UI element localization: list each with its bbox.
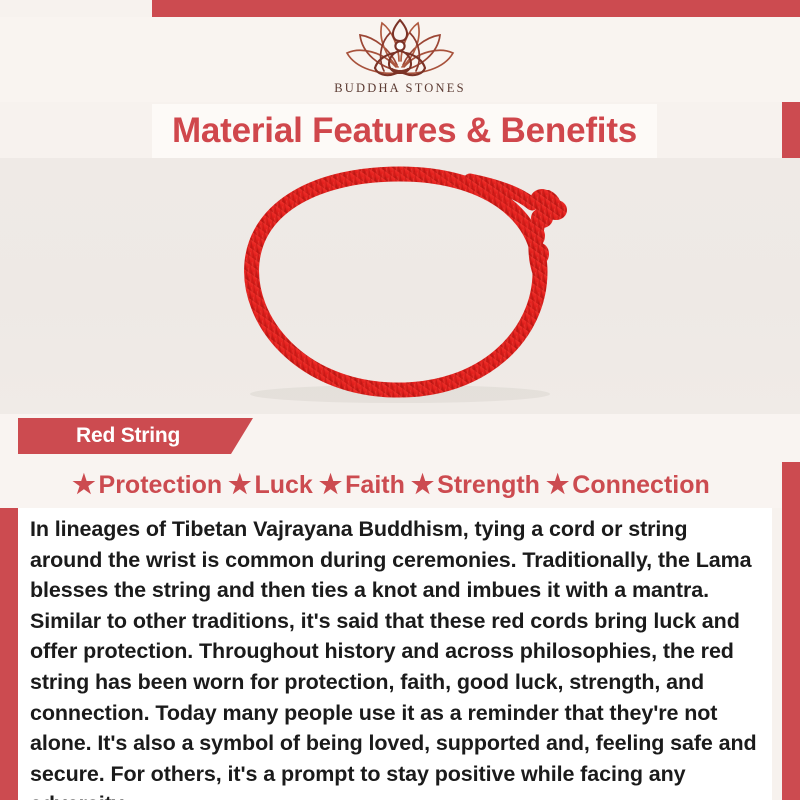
product-label: Red String — [18, 424, 180, 448]
feature-item-connection: ★ Connection — [546, 471, 710, 500]
feature-label: Connection — [572, 471, 710, 500]
description-block: In lineages of Tibetan Vajrayana Buddhis… — [18, 508, 772, 800]
lotus-meditation-icon — [344, 17, 456, 79]
title-banner: Material Features & Benefits — [152, 104, 657, 158]
star-icon: ★ — [72, 471, 95, 497]
feature-label: Faith — [345, 471, 405, 500]
brand-name: BUDDHA STONES — [334, 81, 466, 96]
feature-label: Strength — [437, 471, 540, 500]
brand-logo: BUDDHA STONES — [0, 17, 800, 96]
star-icon: ★ — [319, 471, 342, 497]
red-string-bracelet-image — [0, 158, 800, 414]
infographic-page: BUDDHA STONES Material Features & Benefi… — [0, 0, 800, 800]
feature-list: ★ Protection ★ Luck ★ Faith ★ Strength ★… — [0, 462, 782, 508]
brand-header: BUDDHA STONES — [0, 17, 800, 102]
description-text: In lineages of Tibetan Vajrayana Buddhis… — [30, 514, 762, 800]
feature-item-protection: ★ Protection — [72, 471, 222, 500]
product-photo — [0, 158, 800, 414]
star-icon: ★ — [228, 471, 251, 497]
page-title: Material Features & Benefits — [172, 111, 637, 151]
feature-item-strength: ★ Strength — [411, 471, 540, 500]
feature-label: Luck — [254, 471, 312, 500]
feature-item-luck: ★ Luck — [228, 471, 313, 500]
frame-top-bar — [152, 0, 800, 17]
star-icon: ★ — [411, 471, 434, 497]
feature-item-faith: ★ Faith — [319, 471, 405, 500]
product-label-banner: Red String — [18, 418, 253, 454]
feature-label: Protection — [99, 471, 223, 500]
star-icon: ★ — [546, 471, 569, 497]
